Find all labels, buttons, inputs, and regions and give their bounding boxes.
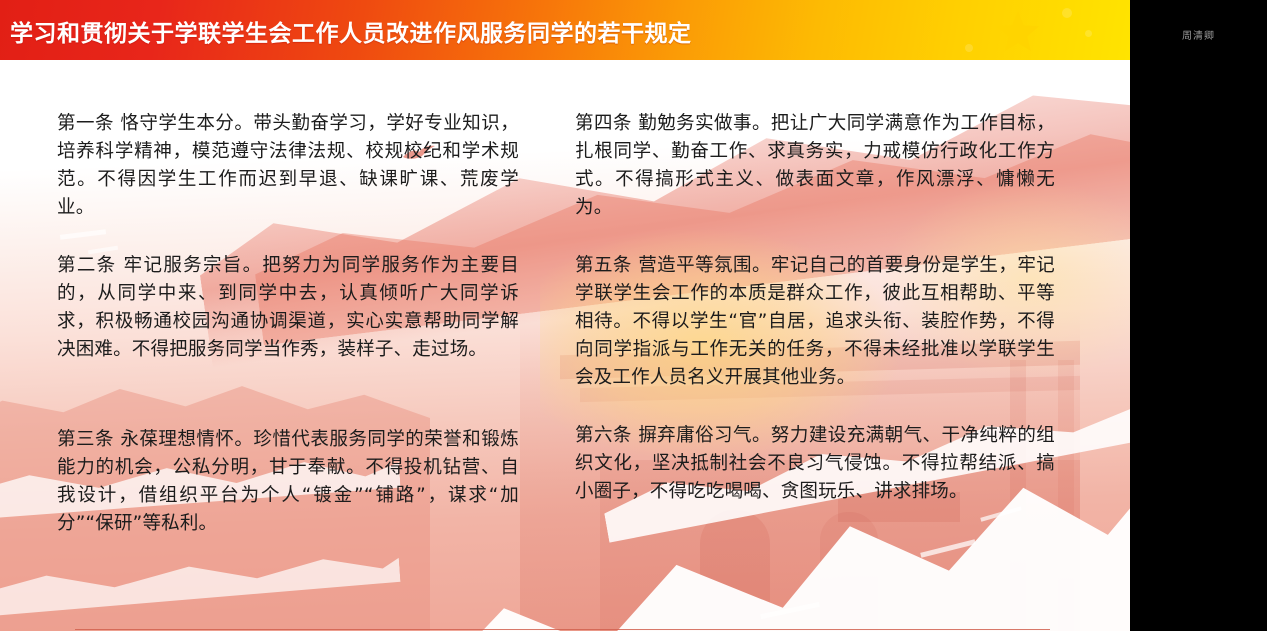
sparkle-dot — [965, 44, 973, 52]
sparkle-dot — [1085, 30, 1092, 37]
slide-header-banner: 学习和贯彻关于学联学生会工作人员改进作风服务同学的若干规定 — [0, 0, 1130, 60]
bottom-divider-line — [75, 629, 1050, 630]
article-paragraph: 第五条 营造平等氛围。牢记自己的首要身份是学生，牢记学联学生会工作的本质是群众工… — [575, 252, 1055, 392]
article-paragraph: 第六条 摒弃庸俗习气。努力建设充满朝气、干净纯粹的组织文化，坚决抵制社会不良习气… — [575, 422, 1055, 506]
watermark-author-name: 周清卿 — [1130, 27, 1267, 42]
five-point-star-icon — [996, 10, 1040, 52]
slide-canvas: 学习和贯彻关于学联学生会工作人员改进作风服务同学的若干规定 — [0, 0, 1130, 631]
article-paragraph: 第一条 恪守学生本分。带头勤奋学习，学好专业知识，培养科学精神，模范遵守法律法规… — [57, 110, 519, 222]
article-paragraph: 第四条 勤勉务实做事。把让广大同学满意作为工作目标，扎根同学、勤奋工作、求真务实… — [575, 110, 1055, 222]
article-paragraph: 第二条 牢记服务宗旨。把努力为同学服务作为主要目的，从同学中来、到同学中去，认真… — [57, 252, 519, 364]
presentation-slide: 学习和贯彻关于学联学生会工作人员改进作风服务同学的若干规定 — [0, 0, 1267, 631]
page-title: 学习和贯彻关于学联学生会工作人员改进作风服务同学的若干规定 — [10, 14, 692, 48]
sparkle-dot — [1062, 8, 1072, 18]
article-paragraph: 第三条 永葆理想情怀。珍惜代表服务同学的荣誉和锻炼能力的机会，公私分明，甘于奉献… — [57, 426, 519, 538]
slide-body-content: 第一条 恪守学生本分。带头勤奋学习，学好专业知识，培养科学精神，模范遵守法律法规… — [0, 60, 1130, 631]
text-column-right: 第四条 勤勉务实做事。把让广大同学满意作为工作目标，扎根同学、勤奋工作、求真务实… — [575, 110, 1055, 532]
text-column-left: 第一条 恪守学生本分。带头勤奋学习，学好专业知识，培养科学精神，模范遵守法律法规… — [57, 110, 519, 564]
right-black-panel: 周清卿 — [1130, 0, 1267, 631]
